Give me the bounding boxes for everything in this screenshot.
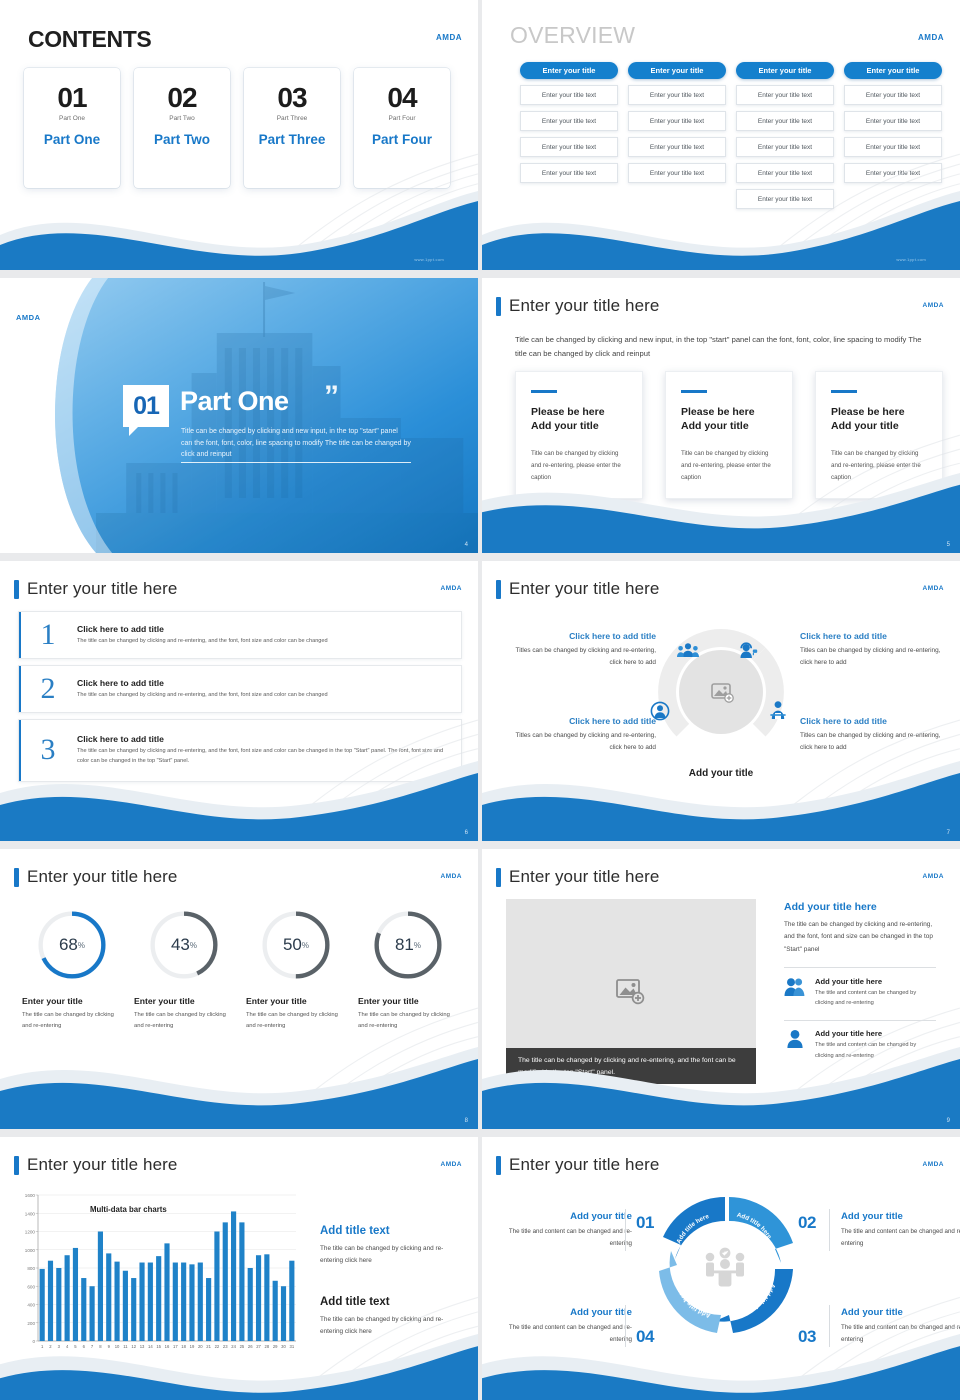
list-item-title: Click here to add title [77,678,449,688]
svg-text:17: 17 [173,1344,178,1349]
svg-text:1600: 1600 [25,1193,36,1198]
svg-text:2: 2 [49,1344,52,1349]
svg-text:31: 31 [290,1344,295,1349]
svg-text:21: 21 [206,1344,211,1349]
donut-title: Enter your title [22,996,122,1006]
svg-text:26: 26 [248,1344,253,1349]
donut-value-label: 68% [34,907,110,983]
card-heading-line1: Please be here [681,405,777,420]
card-list: Please be here Add your title Title can … [515,371,943,499]
brand-logo: AMDA [436,33,462,42]
quadrant-desc: The title and content can be changed and… [841,1322,960,1346]
svg-text:19: 19 [190,1344,195,1349]
list-item[interactable]: 1 Click here to add title The title can … [18,611,462,659]
card-part-label: Part Three [259,132,326,147]
card-subtitle: Part Four [388,115,415,122]
list-item-title: Click here to add title [77,624,449,634]
list-item[interactable]: 2 Click here to add title The title can … [18,665,462,713]
card-number: 02 [167,84,196,112]
title-accent-bar [14,1156,19,1175]
donut-item[interactable]: 81% Enter your title The title can be ch… [358,907,458,1033]
right-paragraph-1: The title can be changed by clicking and… [320,1243,465,1268]
list-item-desc: The title can be changed by clicking and… [77,691,449,701]
card-body: Title can be changed by clicking and re-… [831,448,927,484]
svg-text:23: 23 [223,1344,228,1349]
overview-item[interactable]: Enter your title text [520,137,618,157]
contents-card[interactable]: 02 Part Two Part Two [134,68,230,188]
card-heading-line2: Add your title [531,419,627,434]
title-row: Enter your title here [496,867,659,887]
segment-desc: Titles can be changed by clicking and re… [504,730,656,755]
overview-item[interactable]: Enter your title text [844,85,942,105]
donut-unit: % [78,941,85,950]
donut-title: Enter your title [358,996,458,1006]
title-accent-bar [496,297,501,316]
list-item-title: Click here to add title [77,734,449,744]
svg-text:30: 30 [281,1344,286,1349]
brand-logo: AMDA [16,313,41,322]
slide-numbered-list[interactable]: Enter your title here AMDA 1 Click here … [0,561,478,841]
image-caption: The title can be changed by clicking and… [506,1048,756,1084]
segment-title: Click here to add title [504,631,656,641]
segment-title: Click here to add title [800,716,952,726]
card-heading-line2: Add your title [831,419,927,434]
single-person-icon [784,1029,806,1054]
page-title: Enter your title here [509,867,659,887]
donut-chart-row: 68% Enter your title The title can be ch… [22,907,458,1033]
svg-text:29: 29 [273,1344,278,1349]
segment-caption-top-right[interactable]: Click here to add title Titles can be ch… [800,631,952,670]
overview-item[interactable]: Enter your title text [736,137,834,157]
donut-unit: % [414,941,421,950]
title-row: Enter your title here [14,867,177,887]
divider [625,1305,626,1347]
slide-cycle-diagram[interactable]: Enter your title here AMDA Add your titl… [482,1137,960,1400]
page-number: 4 [465,542,468,548]
title-row: Enter your title here [14,1155,177,1175]
card-accent-dash [681,390,707,393]
donut-item[interactable]: 43% Enter your title The title can be ch… [134,907,234,1033]
quadrant-caption-02[interactable]: Add your title The title and content can… [841,1211,960,1250]
svg-text:18: 18 [181,1344,186,1349]
feature-title: Add your title here [815,1029,936,1038]
brand-logo: AMDA [918,33,944,42]
quadrant-caption-04[interactable]: Add your title The title and content can… [504,1307,632,1346]
svg-text:1200: 1200 [25,1230,36,1235]
svg-text:9: 9 [108,1344,111,1349]
right-heading: Add your title here [784,901,936,913]
page-number: 6 [465,830,468,836]
overview-item[interactable]: Enter your title text [520,85,618,105]
overview-item[interactable]: Enter your title text [520,111,618,131]
card-subtitle: Part One [59,115,85,122]
donut-value-label: 81% [370,907,446,983]
svg-text:11: 11 [123,1344,128,1349]
svg-text:14: 14 [148,1344,153,1349]
donut-unit: % [190,941,197,950]
overview-title-pill[interactable]: Enter your title [736,62,834,79]
segment-caption-bottom-right[interactable]: Click here to add title Titles can be ch… [800,716,952,755]
feature-desc: The title and content can be changed by … [815,1040,936,1061]
brand-logo: AMDA [923,302,945,309]
overview-item[interactable]: Enter your title text [628,137,726,157]
title-accent-bar [14,868,19,887]
svg-text:400: 400 [27,1303,35,1308]
feature-row[interactable]: Add your title here The title and conten… [784,977,936,1009]
card-heading-line1: Please be here [831,405,927,420]
svg-text:7: 7 [91,1344,94,1349]
donut-item[interactable]: 50% Enter your title The title can be ch… [246,907,346,1033]
donut-chart: 68% [34,907,110,983]
segmented-ring-diagram [650,621,792,763]
person-headset-icon [738,641,758,663]
section-number-badge: 01 [123,385,169,427]
quote-mark-icon: ” [324,382,339,412]
svg-text:8: 8 [99,1344,102,1349]
right-heading-2: Add title text [320,1296,465,1308]
svg-text:10: 10 [115,1344,120,1349]
svg-text:25: 25 [240,1344,245,1349]
brand-logo: AMDA [923,873,945,880]
svg-text:3: 3 [58,1344,61,1349]
quadrant-title: Add your title [504,1211,632,1222]
quadrant-number-02: 02 [798,1213,816,1233]
quadrant-desc: The title and content can be changed and… [504,1226,632,1250]
donut-title: Enter your title [246,996,346,1006]
title-row: Enter your title here [496,1155,659,1175]
page-title: Enter your title here [509,579,659,599]
contents-card[interactable]: 04 Part Four Part Four [354,68,450,188]
overview-item[interactable]: Enter your title text [628,163,726,183]
card-part-label: Part One [44,132,100,147]
svg-text:5: 5 [74,1344,77,1349]
svg-text:800: 800 [27,1266,35,1271]
svg-text:28: 28 [265,1344,270,1349]
svg-text:4: 4 [66,1344,69,1349]
title-row: Enter your title here [14,579,177,599]
list-item-number: 1 [19,620,77,650]
donut-value: 81 [395,935,414,955]
divider [784,1020,936,1021]
footer-url: www.1ppt.com [896,257,926,262]
donut-unit: % [302,941,309,950]
content-card[interactable]: Please be here Add your title Title can … [515,371,643,499]
card-part-label: Part Four [372,132,432,147]
donut-value-label: 50% [258,907,334,983]
page-title: Enter your title here [509,296,659,316]
feature-desc: The title and content can be changed by … [815,988,936,1009]
brand-logo: AMDA [441,873,463,880]
card-accent-dash [831,390,857,393]
overview-column: Enter your title Enter your title text E… [736,62,834,209]
contents-card[interactable]: 03 Part Three Part Three [244,68,340,188]
overview-item[interactable]: Enter your title text [844,111,942,131]
slide-contents[interactable]: CONTENTS AMDA 01 Part One Part One 02 Pa… [0,0,478,270]
overview-grid: Enter your title Enter your title text E… [520,62,942,209]
donut-chart: 81% [370,907,446,983]
donut-caption: The title can be changed by clicking and… [134,1010,234,1033]
segment-desc: Titles can be changed by clicking and re… [800,730,952,755]
card-body: Title can be changed by clicking and re-… [531,448,627,484]
overview-item[interactable]: Enter your title text [844,137,942,157]
svg-text:27: 27 [256,1344,261,1349]
svg-text:12: 12 [131,1344,136,1349]
card-subtitle: Part Three [277,115,308,122]
donut-value-label: 43% [146,907,222,983]
right-heading-1: Add title text [320,1225,465,1237]
overview-item[interactable]: Enter your title text [736,111,834,131]
divider [181,462,411,463]
brand-logo: AMDA [923,1161,945,1168]
brand-logo: AMDA [923,585,945,592]
title-accent-bar [496,1156,501,1175]
donut-value: 68 [59,935,78,955]
list-item-desc: The title can be changed by clicking and… [77,637,449,647]
list-item-number: 2 [19,674,77,704]
quadrant-title: Add your title [504,1307,632,1318]
list-item-number: 3 [19,735,77,765]
slide-donut-percentages[interactable]: Enter your title here AMDA 68% Enter you… [0,849,478,1129]
overview-column: Enter your title Enter your title text E… [628,62,726,209]
quadrant-title: Add your title [841,1307,960,1318]
list-item-desc: The title can be changed by clicking and… [77,747,449,767]
decorative-wave [0,1045,478,1129]
slide-deck: CONTENTS AMDA 01 Part One Part One 02 Pa… [0,0,960,1400]
right-paragraph-2: The title can be changed by clicking and… [320,1314,465,1339]
quadrant-caption-01[interactable]: Add your title The title and content can… [504,1211,632,1250]
diagram-center-title: Add your title [650,768,792,779]
svg-text:1: 1 [41,1344,44,1349]
section-number: 01 [133,392,159,421]
overview-column: Enter your title Enter your title text E… [844,62,942,209]
divider [625,1209,626,1251]
card-body: Title can be changed by clicking and re-… [681,448,777,484]
svg-text:1000: 1000 [25,1248,36,1253]
card-number: 03 [277,84,306,112]
section-title: Part One [180,386,289,417]
segment-desc: Titles can be changed by clicking and re… [800,645,952,670]
person-circle-icon [650,701,670,726]
svg-text:1400: 1400 [25,1211,36,1216]
slide-image-and-list[interactable]: Enter your title here AMDA The title can… [482,849,960,1129]
page-title: Enter your title here [27,579,177,599]
quadrant-desc: The title and content can be changed and… [841,1226,960,1250]
segment-caption-bottom-left[interactable]: Click here to add title Titles can be ch… [504,716,656,755]
title-accent-bar [14,580,19,599]
donut-caption: The title can be changed by clicking and… [246,1010,346,1033]
svg-text:24: 24 [231,1344,236,1349]
donut-chart: 50% [258,907,334,983]
page-title: Enter your title here [27,1155,177,1175]
lead-paragraph: Title can be changed by clicking and new… [515,333,927,361]
list-container: 1 Click here to add title The title can … [18,611,462,782]
quadrant-number-03: 03 [798,1327,816,1347]
overview-item[interactable]: Enter your title text [736,189,834,209]
donut-item[interactable]: 68% Enter your title The title can be ch… [22,907,122,1033]
svg-text:15: 15 [156,1344,161,1349]
slide-bar-chart[interactable]: Enter your title here AMDA Multi-data ba… [0,1137,478,1400]
content-card[interactable]: Please be here Add your title Title can … [665,371,793,499]
page-number: 8 [465,1118,468,1124]
overview-item[interactable]: Enter your title text [736,85,834,105]
person-group-icon [768,701,788,724]
feature-title: Add your title here [815,977,936,986]
svg-text:0: 0 [32,1339,35,1344]
quadrant-desc: The title and content can be changed and… [504,1322,632,1346]
segment-title: Click here to add title [504,716,656,726]
page-title: OVERVIEW [510,22,635,49]
slide-overview[interactable]: OVERVIEW AMDA Enter your title Enter you… [482,0,960,270]
brand-logo: AMDA [441,1161,463,1168]
right-paragraph: The title can be changed by clicking and… [784,919,936,956]
card-heading-line1: Please be here [531,405,627,420]
card-accent-dash [531,390,557,393]
image-placeholder-icon [616,978,646,1006]
contents-card[interactable]: 01 Part One Part One [24,68,120,188]
card-number: 01 [57,84,86,112]
svg-text:600: 600 [27,1284,35,1289]
overview-item[interactable]: Enter your title text [520,163,618,183]
svg-text:20: 20 [198,1344,203,1349]
cycle-ring-diagram: Add title here Add title here Add title … [651,1191,799,1339]
overview-title-pill[interactable]: Enter your title [520,62,618,79]
svg-text:22: 22 [215,1344,220,1349]
page-number: 7 [947,830,950,836]
overview-item[interactable]: Enter your title text [628,111,726,131]
title-row: Enter your title here [496,579,659,599]
right-column: Add title text The title can be changed … [320,1225,465,1339]
svg-text:6: 6 [83,1344,86,1349]
segment-desc: Titles can be changed by clicking and re… [504,645,656,670]
overview-column: Enter your title Enter your title text E… [520,62,618,209]
donut-value: 43 [171,935,190,955]
page-number: 9 [947,1118,950,1124]
segment-caption-top-left[interactable]: Click here to add title Titles can be ch… [504,631,656,670]
group-people-icon [677,643,699,663]
bar-chart: 0200400600800100012001400160012345678910… [12,1189,300,1357]
page-number: 5 [947,542,950,548]
decorative-wave [0,189,478,270]
donut-value: 50 [283,935,302,955]
divider [829,1305,830,1347]
svg-text:13: 13 [140,1344,145,1349]
contents-card-list: 01 Part One Part One 02 Part Two Part Tw… [24,68,450,188]
page-title: Enter your title here [509,1155,659,1175]
overview-title-pill[interactable]: Enter your title [628,62,726,79]
page-title: CONTENTS [28,26,151,53]
overview-item[interactable]: Enter your title text [628,85,726,105]
card-heading-line2: Add your title [681,419,777,434]
brand-logo: AMDA [441,585,463,592]
slide-three-cards[interactable]: Enter your title here AMDA Title can be … [482,278,960,553]
segment-title: Click here to add title [800,631,952,641]
svg-text:16: 16 [165,1344,170,1349]
footer-url: www.1ppt.com [414,257,444,262]
quadrant-title: Add your title [841,1211,960,1222]
card-number: 04 [387,84,416,112]
card-subtitle: Part Two [169,115,195,122]
divider [784,967,936,968]
title-row: Enter your title here [496,296,659,316]
page-title: Enter your title here [27,867,177,887]
right-column: Add your title here The title can be cha… [784,901,936,1070]
donut-caption: The title can be changed by clicking and… [358,1010,458,1033]
donut-chart: 43% [146,907,222,983]
title-accent-bar [496,868,501,887]
donut-caption: The title can be changed by clicking and… [22,1010,122,1033]
list-item[interactable]: 3 Click here to add title The title can … [18,719,462,782]
slide-section-part-one[interactable]: AMDA 01 Part One ” Title can be changed … [0,278,478,553]
title-accent-bar [496,580,501,599]
section-body: Title can be changed by clicking and new… [181,426,411,461]
slide-segmented-circle[interactable]: Enter your title here AMDA Click here to… [482,561,960,841]
feature-row[interactable]: Add your title here The title and conten… [784,1029,936,1061]
quadrant-caption-03[interactable]: Add your title The title and content can… [841,1307,960,1346]
content-card[interactable]: Please be here Add your title Title can … [815,371,943,499]
overview-item[interactable]: Enter your title text [844,163,942,183]
divider [829,1209,830,1251]
svg-text:200: 200 [27,1321,35,1326]
overview-item[interactable]: Enter your title text [736,163,834,183]
two-people-icon [784,977,806,1002]
overview-title-pill[interactable]: Enter your title [844,62,942,79]
donut-title: Enter your title [134,996,234,1006]
card-part-label: Part Two [154,132,210,147]
